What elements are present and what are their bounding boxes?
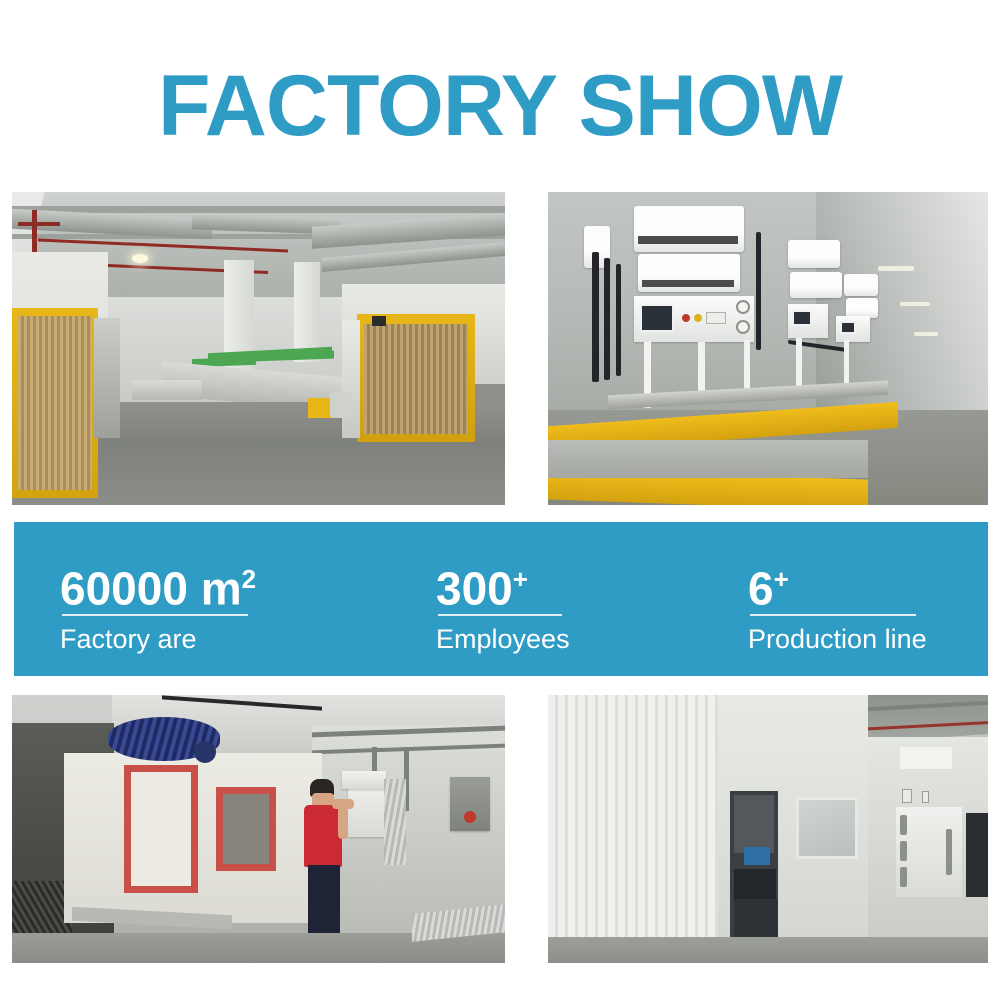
indicator-light-yellow — [694, 314, 702, 322]
sprinkler-pipe — [18, 222, 60, 226]
ac-indoor-unit — [634, 206, 744, 252]
high-window — [900, 747, 952, 769]
ac-indoor-unit — [846, 298, 878, 318]
stat-divider — [62, 614, 248, 616]
machine-body-left — [94, 318, 120, 438]
duct-elbow — [194, 741, 216, 763]
factory-show-page: FACTORY SHOW Air condi — [0, 0, 1000, 1000]
machine-rack-right — [364, 324, 468, 434]
machine-indicator — [372, 316, 386, 326]
chamber-window-red-frame — [216, 787, 276, 871]
chamber-door-handle[interactable] — [900, 841, 907, 861]
ceiling-lamp — [132, 254, 148, 263]
stat-employees: 300+ Employees — [436, 522, 696, 676]
stat-superscript: + — [774, 564, 789, 594]
rack-leg — [796, 338, 802, 390]
stat-production-line: 6+ Production line — [748, 522, 968, 676]
computer-monitor — [744, 847, 770, 865]
conveyor-line — [132, 380, 202, 400]
hydraulic-hose — [592, 252, 599, 382]
machine-rack-left — [18, 316, 92, 490]
ceiling-light — [914, 332, 938, 336]
stat-divider — [438, 614, 562, 616]
floor-equipment — [330, 392, 352, 418]
ceiling-light — [900, 302, 930, 306]
photo-air-conditioning-data-rd-laboratory[interactable]: Air conditioning data R&D laboratory — [548, 695, 988, 963]
photo-air-conditioning-testing-production-line[interactable]: Air conditioning testing production line — [548, 192, 988, 505]
hydraulic-hose — [604, 258, 610, 380]
stat-label: Employees — [436, 622, 570, 656]
stat-number: 6 — [748, 562, 774, 614]
control-touchscreen[interactable] — [640, 304, 674, 332]
measurement-nozzle — [342, 771, 386, 789]
observation-window — [796, 797, 858, 859]
machine-body-right — [342, 320, 360, 438]
chamber-door-red-frame — [124, 765, 198, 893]
control-panel[interactable] — [922, 791, 929, 803]
pressure-gauge — [736, 320, 750, 334]
worker-shirt — [304, 805, 342, 867]
stat-label: Production line — [748, 622, 927, 656]
door-interior-upper — [734, 795, 774, 853]
stat-value: 300+ — [436, 554, 528, 613]
ac-unit-vent — [638, 236, 738, 244]
chamber-door-handle[interactable] — [900, 815, 907, 835]
stat-value: 6+ — [748, 554, 789, 613]
control-touchscreen[interactable] — [840, 321, 856, 334]
control-touchscreen[interactable] — [792, 310, 812, 326]
pressure-gauge — [736, 300, 750, 314]
hydraulic-hose — [756, 232, 761, 350]
ac-unit-vent — [642, 280, 734, 287]
flexible-hose — [384, 779, 406, 865]
conveyor-track — [548, 440, 868, 478]
far-doorway — [966, 813, 988, 897]
stat-number: 60000 m — [60, 562, 242, 614]
chamber-door-handle[interactable] — [946, 829, 952, 875]
corrugated-panel-wall — [548, 695, 718, 945]
stat-number: 300 — [436, 562, 513, 614]
worker-trousers — [308, 865, 340, 933]
page-title: FACTORY SHOW — [0, 58, 1000, 154]
rack-leg — [844, 340, 849, 384]
stat-superscript: + — [513, 564, 528, 594]
ac-indoor-unit — [844, 274, 878, 296]
photo-air-conditioning-testing[interactable]: Air conditioning testing — [12, 695, 505, 963]
photo-air-conditioning-production-workshop[interactable]: Air conditioning production workshop — [12, 192, 505, 505]
worker-arm — [338, 805, 348, 839]
stat-factory-area: 60000 m2 Factory are — [60, 522, 380, 676]
ceiling-light — [878, 266, 914, 271]
stat-superscript: 2 — [242, 564, 256, 594]
chamber-door-handle[interactable] — [900, 867, 907, 887]
power-socket — [464, 811, 476, 823]
stat-divider — [750, 614, 916, 616]
desk-computer — [734, 869, 776, 899]
ac-indoor-unit — [788, 240, 840, 268]
stat-label: Factory are — [60, 622, 197, 656]
control-panel[interactable] — [902, 789, 912, 803]
hydraulic-hose — [616, 264, 621, 376]
ac-indoor-unit — [790, 272, 842, 298]
indicator-light-red — [682, 314, 690, 322]
stats-bar: 60000 m2 Factory are 300+ Employees 6+ P… — [14, 522, 988, 676]
control-switch[interactable] — [706, 312, 726, 324]
stat-value: 60000 m2 — [60, 554, 256, 613]
laboratory-floor — [548, 937, 988, 963]
